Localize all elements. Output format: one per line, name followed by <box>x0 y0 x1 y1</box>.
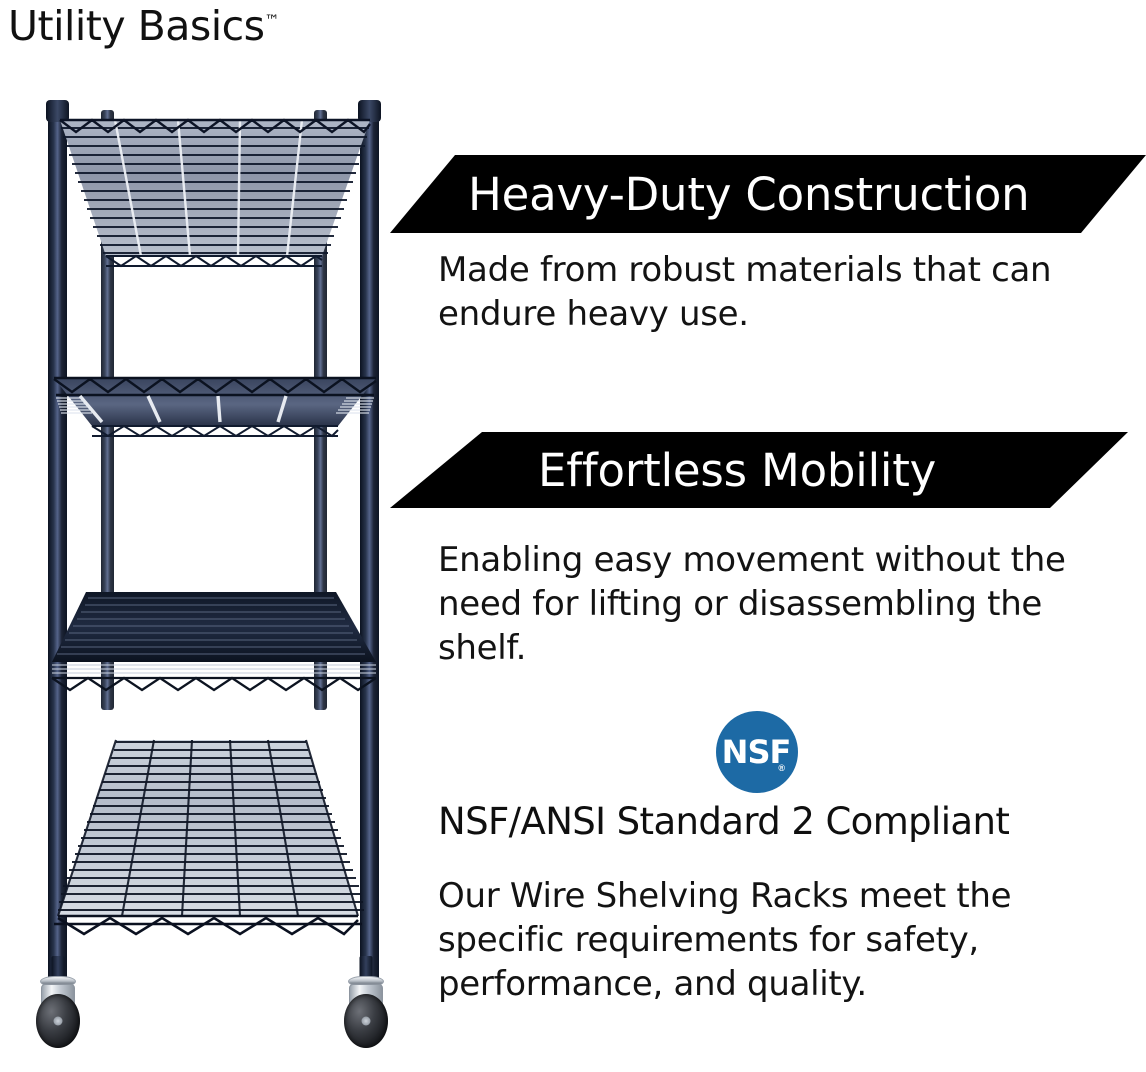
feature-heading: Heavy-Duty Construction <box>390 172 1029 217</box>
product-image-wire-shelving-rack <box>40 88 410 1063</box>
feature-heading: Effortless Mobility <box>390 448 936 493</box>
feature-column: Heavy-Duty Construction Made from robust… <box>390 0 1146 1072</box>
registered-trademark-symbol: ® <box>778 763 785 773</box>
shelf-tier-4 <box>40 728 390 948</box>
feature-banner-effortless-mobility: Effortless Mobility <box>390 432 1146 508</box>
shelf-tier-2 <box>40 370 390 460</box>
feature-body-heavy-duty-construction: Made from robust materials that can endu… <box>438 248 1138 336</box>
feature-banner-heavy-duty-construction: Heavy-Duty Construction <box>390 155 1146 233</box>
certification-body: Our Wire Shelving Racks meet the specifi… <box>438 874 1138 1007</box>
caster-hub <box>362 1017 371 1026</box>
shelf-tier-1 <box>40 106 390 276</box>
certification-title: NSF/ANSI Standard 2 Compliant <box>438 800 1138 844</box>
caster-front-right <box>340 956 392 1052</box>
infographic-page: Utility Basics™ <box>0 0 1146 1072</box>
brand-name: Utility Basics <box>8 2 265 50</box>
nsf-certification-icon: NSF ® <box>716 711 798 793</box>
brand-logo: Utility Basics™ <box>8 4 280 49</box>
shelf-tier-3 <box>40 586 390 696</box>
feature-body-effortless-mobility: Enabling easy movement without the need … <box>438 538 1138 671</box>
caster-hub <box>54 1017 63 1026</box>
caster-front-left <box>32 956 84 1052</box>
trademark-symbol: ™ <box>265 11 280 29</box>
